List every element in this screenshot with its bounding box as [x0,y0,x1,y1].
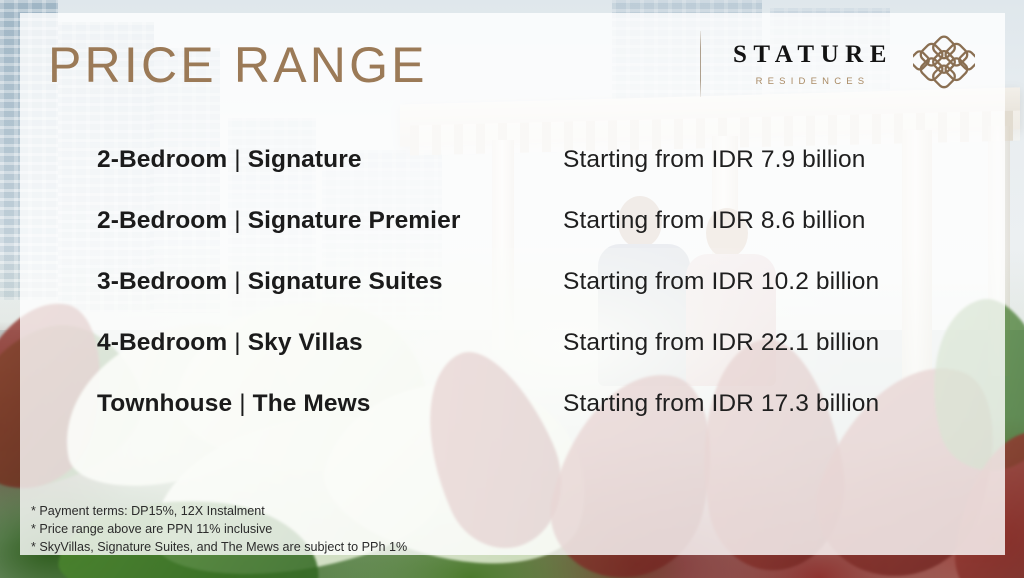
unit-separator: | [227,329,247,356]
footnote-item: * Price range above are PPN 11% inclusiv… [31,520,407,538]
brand-logo-lockup: STATURE RESIDENCES [700,28,975,100]
unit-type-cell: 4-Bedroom|Sky Villas [97,329,563,357]
table-row: 2-Bedroom|Signature Premier Starting fro… [97,207,927,268]
price-cell: Starting from IDR 22.1 billion [563,329,927,357]
unit-name: Signature Suites [248,268,443,295]
footnotes-block: * Payment terms: DP15%, 12X Instalment *… [31,502,407,556]
unit-name: Sky Villas [248,329,363,356]
unit-name: Signature [248,146,362,173]
unit-type-cell: 2-Bedroom|Signature Premier [97,207,563,235]
interlocking-knot-emblem-icon [913,35,975,93]
footnote-item: * Payment terms: DP15%, 12X Instalment [31,502,407,520]
price-cell: Starting from IDR 8.6 billion [563,207,927,235]
table-row: Townhouse|The Mews Starting from IDR 17.… [97,390,927,451]
unit-separator: | [227,268,247,295]
unit-bedrooms: 2-Bedroom [97,146,227,173]
unit-bedrooms: 2-Bedroom [97,207,227,234]
price-cell: Starting from IDR 7.9 billion [563,146,927,174]
brand-wordmark: STATURE [727,42,893,67]
price-cell: Starting from IDR 17.3 billion [563,390,927,418]
unit-bedrooms: Townhouse [97,390,232,417]
unit-separator: | [227,146,247,173]
unit-type-cell: 3-Bedroom|Signature Suites [97,268,563,296]
slide-content: PRICE RANGE STATURE RESIDENCES [0,0,1024,578]
price-range-slide: PRICE RANGE STATURE RESIDENCES [0,0,1024,578]
unit-bedrooms: 4-Bedroom [97,329,227,356]
vertical-divider-icon [700,31,701,97]
table-row: 3-Bedroom|Signature Suites Starting from… [97,268,927,329]
unit-separator: | [232,390,252,417]
unit-bedrooms: 3-Bedroom [97,268,227,295]
brand-wordmark-group: STATURE RESIDENCES [727,42,893,87]
unit-name: The Mews [253,390,371,417]
page-title: PRICE RANGE [48,36,428,94]
unit-type-cell: Townhouse|The Mews [97,390,563,418]
footnote-item: * SkyVillas, Signature Suites, and The M… [31,538,407,556]
brand-subtitle: RESIDENCES [751,76,870,87]
price-table: 2-Bedroom|Signature Starting from IDR 7.… [97,146,927,451]
table-row: 4-Bedroom|Sky Villas Starting from IDR 2… [97,329,927,390]
unit-name: Signature Premier [248,207,461,234]
table-row: 2-Bedroom|Signature Starting from IDR 7.… [97,146,927,207]
unit-separator: | [227,207,247,234]
unit-type-cell: 2-Bedroom|Signature [97,146,563,174]
price-cell: Starting from IDR 10.2 billion [563,268,927,296]
